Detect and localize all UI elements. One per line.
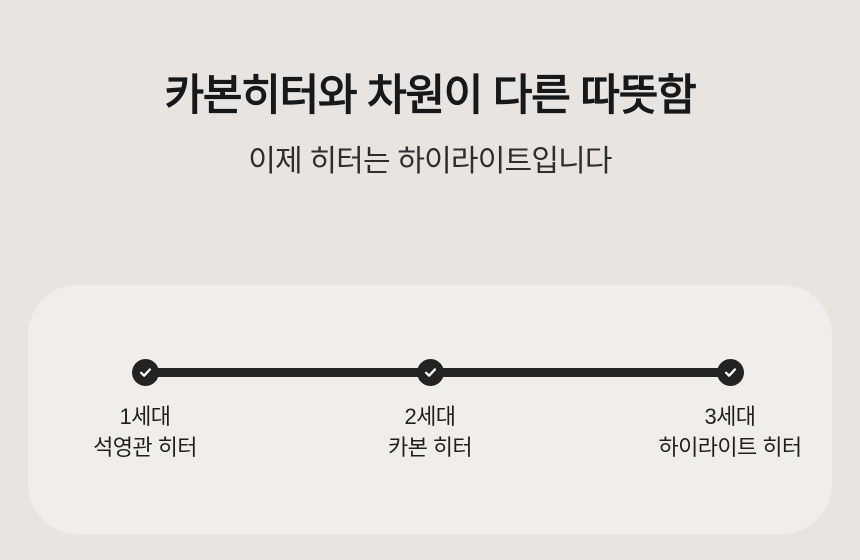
check-icon [138,365,153,380]
timeline-card: 1세대 석영관 히터 2세대 카본 히터 3세대 하이라이트 히터 [28,285,832,534]
timeline-label-name: 석영관 히터 [40,432,250,463]
timeline-label-generation: 1세대 [40,401,250,432]
timeline-label-1: 1세대 석영관 히터 [40,401,250,463]
timeline-node-2[interactable] [417,359,444,386]
timeline-label-3: 3세대 하이라이트 히터 [645,401,815,463]
timeline-label-2: 2세대 카본 히터 [325,401,535,463]
timeline-label-name: 하이라이트 히터 [645,432,815,463]
generation-timeline: 1세대 석영관 히터 2세대 카본 히터 3세대 하이라이트 히터 [28,285,832,534]
promo-banner: 카본히터와 차원이 다른 따뜻함 이제 히터는 하이라이트입니다 [0,0,860,560]
check-icon [723,365,738,380]
timeline-label-generation: 3세대 [645,401,815,432]
page-title: 카본히터와 차원이 다른 따뜻함 [0,72,860,122]
timeline-node-3[interactable] [717,359,744,386]
timeline-label-name: 카본 히터 [325,432,535,463]
heading-block: 카본히터와 차원이 다른 따뜻함 이제 히터는 하이라이트입니다 [0,72,860,180]
timeline-label-generation: 2세대 [325,401,535,432]
timeline-node-1[interactable] [132,359,159,386]
page-subtitle: 이제 히터는 하이라이트입니다 [0,144,860,180]
check-icon [423,365,438,380]
